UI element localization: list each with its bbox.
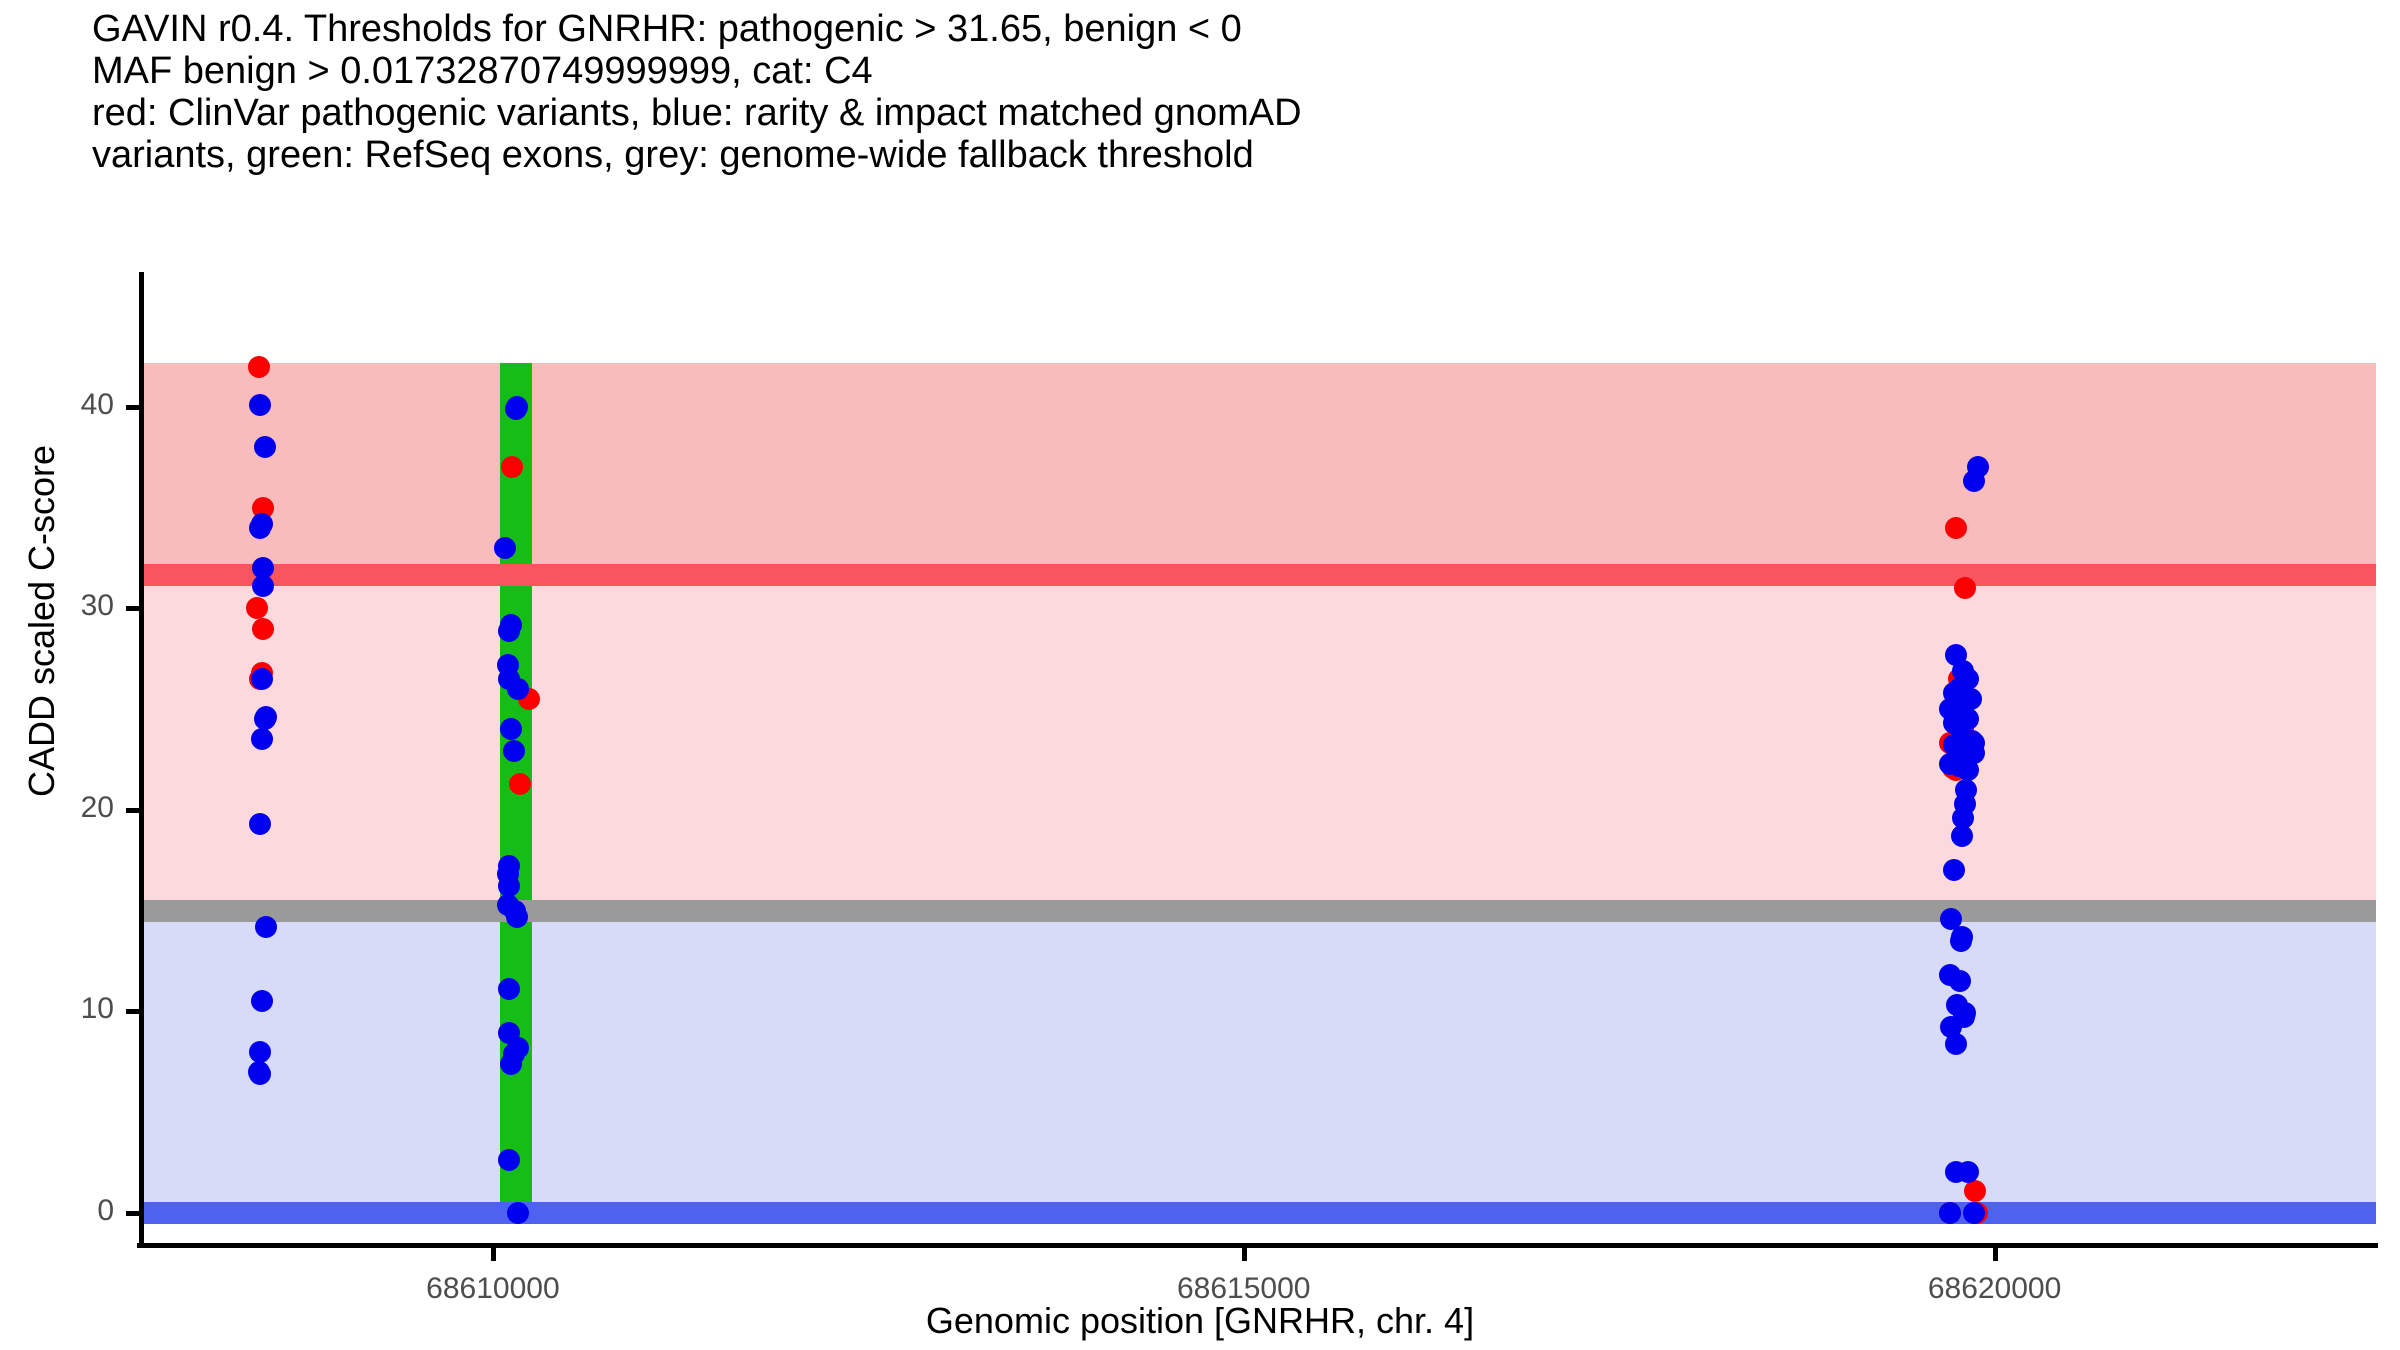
gnomad-variant-point[interactable] [1945,1033,1967,1055]
y-tick-mark [126,1009,139,1014]
y-tick-mark [126,808,139,813]
band-vus [140,575,2376,910]
y-tick-mark [126,405,139,410]
y-tick-mark [126,1211,139,1216]
x-axis-line [137,1243,2378,1248]
title-line-4: variants, green: RefSeq exons, grey: gen… [92,134,2342,176]
threshold-line-benign [140,1202,2376,1224]
y-tick-mark [126,606,139,611]
y-axis-line [139,272,144,1247]
x-tick-mark [1993,1248,1998,1261]
y-tick-label: 30 [81,589,114,623]
chart-title-block: GAVIN r0.4. Thresholds for GNRHR: pathog… [92,8,2342,176]
clinvar-variant-point[interactable] [509,773,531,795]
gnomad-variant-point[interactable] [1957,759,1979,781]
gnomad-variant-point[interactable] [249,1041,271,1063]
threshold-line-pathogenic [140,564,2376,586]
y-tick-label: 10 [81,992,114,1026]
gnomad-variant-point[interactable] [254,436,276,458]
gnomad-variant-point[interactable] [249,517,271,539]
gnomad-variant-point[interactable] [249,813,271,835]
gnomad-variant-point[interactable] [1957,1161,1979,1183]
x-tick-mark [491,1248,496,1261]
chart-root: GAVIN r0.4. Thresholds for GNRHR: pathog… [0,0,2400,1350]
band-pathogenic [140,363,2376,576]
gnomad-variant-point[interactable] [1963,1202,1985,1224]
x-tick-mark [1242,1248,1247,1261]
gnomad-variant-point[interactable] [505,398,527,420]
gnomad-variant-point[interactable] [255,916,277,938]
gnomad-variant-point[interactable] [506,906,528,928]
plot-area [140,276,2376,1243]
y-tick-label: 40 [81,388,114,422]
gnomad-variant-point[interactable] [1963,470,1985,492]
gnomad-variant-point[interactable] [500,1053,522,1075]
gnomad-variant-point[interactable] [249,1063,271,1085]
gnomad-variant-point[interactable] [249,394,271,416]
title-line-2: MAF benign > 0.01732870749999999, cat: C… [92,50,2342,92]
gnomad-variant-point[interactable] [251,990,273,1012]
gnomad-variant-point[interactable] [1951,825,1973,847]
gnomad-variant-point[interactable] [251,668,273,690]
gnomad-variant-point[interactable] [1949,970,1971,992]
clinvar-variant-point[interactable] [1954,577,1976,599]
y-tick-label: 20 [81,791,114,825]
y-axis-title: CADD scaled C-score [21,321,63,921]
threshold-line-genome-wide-fallback [140,900,2376,922]
gnomad-variant-point[interactable] [1950,930,1972,952]
clinvar-variant-point[interactable] [252,618,274,640]
gnomad-variant-point[interactable] [494,537,516,559]
clinvar-variant-point[interactable] [248,356,270,378]
title-line-3: red: ClinVar pathogenic variants, blue: … [92,92,2342,134]
gnomad-variant-point[interactable] [251,728,273,750]
x-axis-title: Genomic position [GNRHR, chr. 4] [0,1300,2400,1342]
gnomad-variant-point[interactable] [1939,1202,1961,1224]
clinvar-variant-point[interactable] [1945,517,1967,539]
band-benign [140,911,2376,1213]
title-line-1: GAVIN r0.4. Thresholds for GNRHR: pathog… [92,8,2342,50]
y-tick-label: 0 [97,1194,114,1228]
gnomad-variant-point[interactable] [498,620,520,642]
gnomad-variant-point[interactable] [254,708,276,730]
